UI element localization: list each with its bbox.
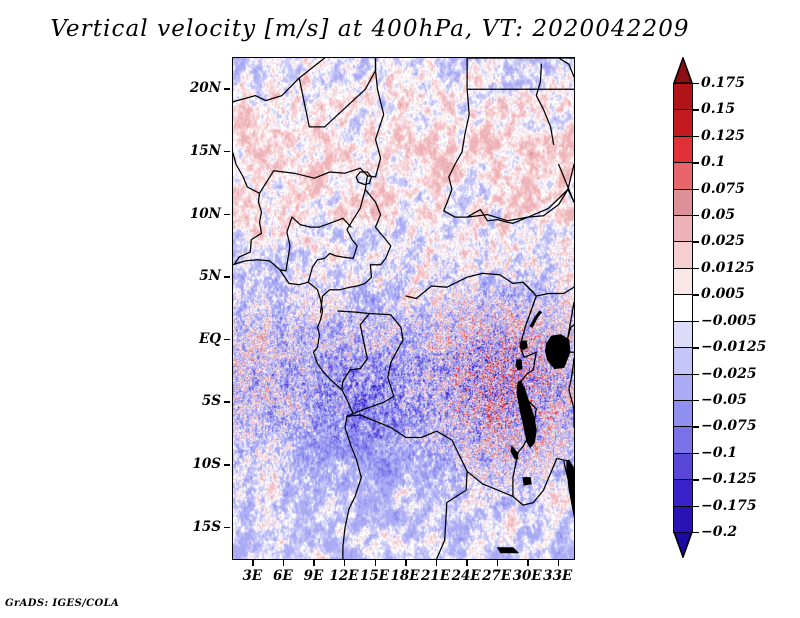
colorbar-tick — [693, 426, 699, 427]
x-tick — [344, 560, 346, 566]
y-axis-label: 5N — [199, 268, 221, 284]
colorbar-tick-label: −0.025 — [701, 366, 757, 382]
border-line — [568, 302, 574, 337]
colorbar-tick — [693, 162, 699, 163]
x-axis-label: 12E — [329, 568, 358, 584]
colorbar-tick — [693, 374, 699, 375]
colorbar-tick-label: −0.125 — [701, 471, 757, 487]
colorbar-segment — [673, 189, 693, 217]
border-line — [280, 217, 292, 271]
y-axis-label: EQ — [199, 331, 221, 347]
y-axis-label: 10N — [190, 206, 221, 222]
colorbar-segment — [673, 83, 693, 111]
colorbar-tick-label: 0.15 — [701, 101, 735, 117]
colorbar-tick — [693, 532, 699, 533]
lake-polygon — [516, 360, 522, 370]
colorbar-tick-label: −0.1 — [701, 445, 737, 461]
border-line — [569, 359, 574, 428]
border-line — [292, 217, 351, 227]
colorbar-tick — [693, 321, 699, 322]
colorbar-segment — [673, 506, 693, 534]
x-tick — [252, 560, 254, 566]
lake-polygon — [523, 478, 531, 486]
lake-polygon — [530, 311, 541, 327]
border-line — [559, 58, 574, 77]
colorbar-tick — [693, 506, 699, 507]
border-line — [356, 172, 371, 185]
x-tick — [283, 560, 285, 566]
map-plot-area[interactable] — [232, 57, 575, 560]
colorbar-tick — [693, 479, 699, 480]
x-tick — [466, 560, 468, 566]
x-axis-label: 6E — [273, 568, 293, 584]
x-tick — [558, 560, 560, 566]
x-axis-label: 30E — [513, 568, 542, 584]
x-tick — [436, 560, 438, 566]
y-tick — [224, 276, 230, 278]
colorbar-tick-label: 0.1 — [701, 154, 725, 170]
border-line — [406, 273, 533, 298]
lake-polygon — [498, 548, 518, 553]
y-axis-label: 15N — [190, 143, 221, 159]
colorbar-segment — [673, 479, 693, 507]
page-title: Vertical velocity [m/s] at 400hPa, VT: 2… — [0, 16, 740, 42]
colorbar-tick — [693, 136, 699, 137]
colorbar-tick-label: 0.025 — [701, 233, 745, 249]
colorbar-tick-label: −0.2 — [701, 524, 737, 540]
colorbar-segment — [673, 374, 693, 402]
colorbar-tick-label: 0.005 — [701, 286, 745, 302]
x-axis-label: 15E — [360, 568, 389, 584]
y-axis-label: 5S — [202, 393, 221, 409]
border-line — [536, 287, 574, 296]
x-tick — [405, 560, 407, 566]
colorbar-tick-label: −0.0125 — [701, 339, 766, 355]
y-axis-label: 15S — [192, 519, 221, 535]
border-line — [467, 190, 568, 221]
colorbar-segment — [673, 109, 693, 137]
y-tick — [224, 214, 230, 216]
border-line — [347, 415, 467, 559]
x-axis-label: 3E — [243, 568, 263, 584]
border-line — [447, 58, 469, 203]
colorbar-tick — [693, 294, 699, 295]
lake-polygon — [546, 335, 570, 369]
colorbar-tick — [693, 189, 699, 190]
x-axis-label: 21E — [421, 568, 450, 584]
colorbar-scale[interactable] — [673, 57, 693, 558]
y-tick — [224, 401, 230, 403]
colorbar-segment — [673, 241, 693, 269]
x-tick — [375, 560, 377, 566]
colorbar-tick — [693, 347, 699, 348]
colorbar-tick — [693, 453, 699, 454]
lake-polygon — [511, 446, 518, 459]
y-tick — [224, 88, 230, 90]
colorbar-tick-label: 0.175 — [701, 75, 745, 91]
lake-polygon — [567, 460, 574, 520]
colorbar-tick-label: 0.0125 — [701, 260, 755, 276]
colorbar-cap-bottom — [673, 532, 693, 558]
x-axis-label: 33E — [543, 568, 572, 584]
y-tick — [224, 339, 230, 341]
y-axis-label: 10S — [192, 456, 221, 472]
border-line — [260, 168, 368, 193]
grads-figure: Vertical velocity [m/s] at 400hPa, VT: 2… — [0, 0, 800, 618]
y-tick — [224, 464, 230, 466]
x-axis-label: 18E — [390, 568, 419, 584]
border-line — [308, 176, 367, 283]
country-borders-overlay — [233, 58, 574, 559]
border-line — [444, 203, 513, 223]
x-axis-label: 27E — [482, 568, 511, 584]
y-axis-label: 20N — [190, 80, 221, 96]
x-axis-label: 9E — [304, 568, 324, 584]
colorbar-cap-top — [673, 57, 693, 83]
colorbar-segment — [673, 294, 693, 322]
border-line — [338, 311, 370, 390]
colorbar-tick-label: 0.125 — [701, 128, 745, 144]
colorbar-tick-label: −0.075 — [701, 418, 757, 434]
attribution-footer: GrADS: IGES/COLA — [5, 598, 119, 609]
colorbar-segment — [673, 162, 693, 190]
colorbar-segment — [673, 453, 693, 481]
colorbar-tick-label: 0.075 — [701, 181, 745, 197]
colorbar-tick-label: −0.005 — [701, 313, 757, 329]
border-line — [367, 58, 383, 177]
border-line — [568, 165, 574, 190]
colorbar-segment — [673, 400, 693, 428]
x-tick — [497, 560, 499, 566]
colorbar-tick — [693, 109, 699, 110]
colorbar-segment — [673, 136, 693, 164]
colorbar-segment — [673, 215, 693, 243]
colorbar-segment — [673, 426, 693, 454]
border-line — [233, 58, 325, 102]
colorbar-segment — [673, 268, 693, 296]
x-tick — [313, 560, 315, 566]
colorbar-tick-label: 0.05 — [701, 207, 735, 223]
lake-polygon — [517, 381, 536, 447]
colorbar-tick — [693, 268, 699, 269]
colorbar-tick — [693, 241, 699, 242]
colorbar-tick — [693, 400, 699, 401]
x-axis-label: 24E — [452, 568, 481, 584]
y-tick — [224, 151, 230, 153]
colorbar-tick-label: −0.175 — [701, 498, 757, 514]
colorbar-segment — [673, 347, 693, 375]
x-tick — [527, 560, 529, 566]
colorbar-tick — [693, 83, 699, 84]
border-line — [536, 64, 553, 144]
colorbar-segment — [673, 321, 693, 349]
colorbar-tick-label: −0.05 — [701, 392, 747, 408]
y-tick — [224, 527, 230, 529]
border-line — [233, 260, 361, 559]
border-line — [233, 153, 262, 263]
colorbar-tick — [693, 215, 699, 216]
